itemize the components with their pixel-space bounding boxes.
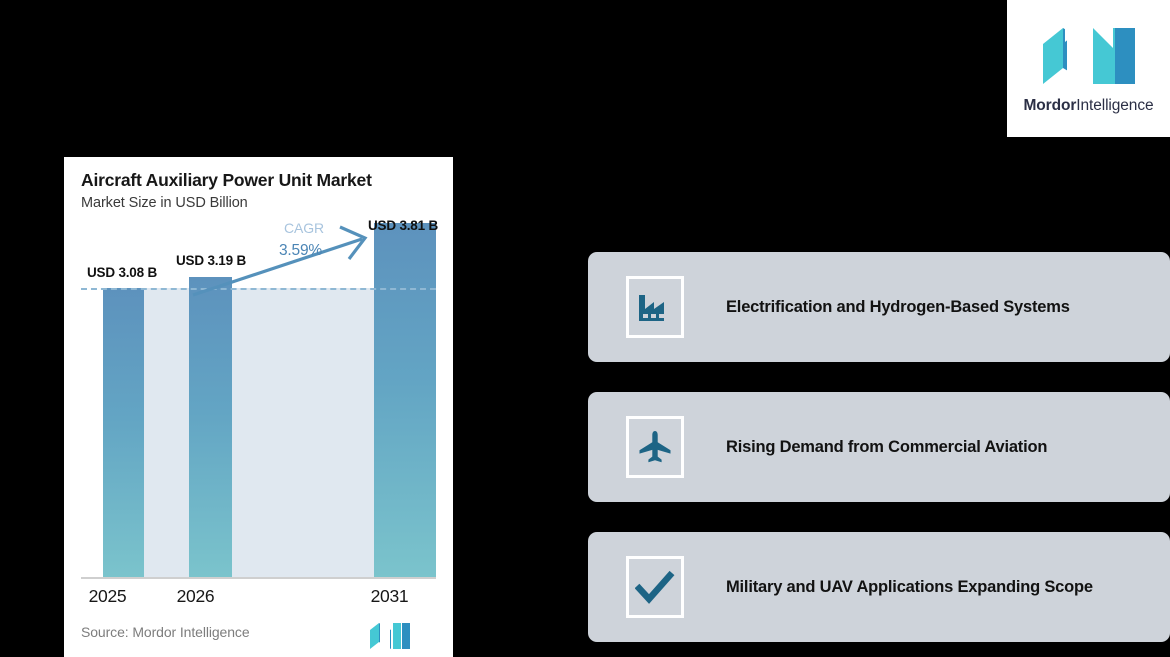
bar-label-2025: USD 3.08 B <box>87 265 157 280</box>
reference-dashed-line <box>81 288 436 290</box>
checkmark-icon-box <box>626 556 684 618</box>
airplane-icon <box>638 430 672 464</box>
bar-2026 <box>189 277 232 579</box>
driver-card-electrification[interactable]: Electrification and Hydrogen-Based Syste… <box>588 252 1170 362</box>
cagr-value: 3.59% <box>279 242 322 260</box>
factory-icon <box>637 291 673 323</box>
chart-subtitle: Market Size in USD Billion <box>81 195 248 211</box>
chart-plot-area: USD 3.08 B USD 3.19 B USD 3.81 B CAGR 3.… <box>81 225 436 579</box>
logo-word-mordor: Mordor <box>1024 97 1077 114</box>
cagr-label: CAGR <box>284 220 324 236</box>
bar-label-2026: USD 3.19 B <box>176 253 246 268</box>
x-tick-2026: 2026 <box>158 586 233 607</box>
plot-band-2 <box>232 288 392 579</box>
checkmark-icon <box>635 570 675 604</box>
bar-2031 <box>374 223 436 579</box>
airplane-icon-box <box>626 416 684 478</box>
factory-icon-box <box>626 276 684 338</box>
mordor-logo-mark-small-icon <box>369 621 411 651</box>
mordor-intelligence-logo-plate: MordorIntelligence <box>1007 0 1170 137</box>
chart-title: Aircraft Auxiliary Power Unit Market <box>81 170 372 191</box>
logo-word-intelligence: Intelligence <box>1076 97 1153 114</box>
bar-label-2031: USD 3.81 B <box>368 218 438 233</box>
x-axis-line <box>81 577 436 579</box>
slide-canvas: MordorIntelligence Aircraft Auxiliary Po… <box>0 0 1170 657</box>
driver-label-military-uav: Military and UAV Applications Expanding … <box>726 578 1093 597</box>
x-tick-2031: 2031 <box>352 586 427 607</box>
mordor-logo-wordmark: MordorIntelligence <box>1024 97 1154 115</box>
mordor-logo-mark-icon <box>1041 22 1137 90</box>
bar-2025 <box>103 288 144 579</box>
driver-label-commercial-aviation: Rising Demand from Commercial Aviation <box>726 438 1047 457</box>
plot-band-1 <box>144 288 189 579</box>
driver-card-military-uav[interactable]: Military and UAV Applications Expanding … <box>588 532 1170 642</box>
driver-label-electrification: Electrification and Hydrogen-Based Syste… <box>726 298 1070 317</box>
chart-source-label: Source: Mordor Intelligence <box>81 624 250 640</box>
driver-card-commercial-aviation[interactable]: Rising Demand from Commercial Aviation <box>588 392 1170 502</box>
x-tick-2025: 2025 <box>70 586 145 607</box>
market-size-chart-card: Aircraft Auxiliary Power Unit Market Mar… <box>64 157 453 657</box>
